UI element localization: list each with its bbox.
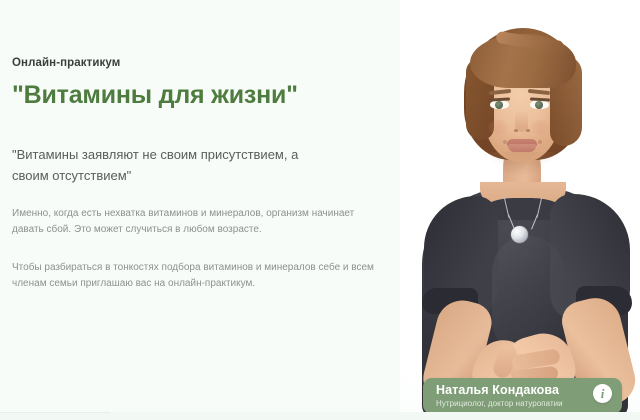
text-column: Онлайн-практикум "Витамины для жизни" "В…	[12, 56, 412, 292]
lower-lip	[508, 144, 536, 152]
info-icon[interactable]: i	[593, 384, 612, 403]
bottom-hairline	[0, 412, 110, 413]
jaw-shading	[490, 152, 554, 168]
body-paragraph-1: Именно, когда есть нехватка витаминов и …	[12, 206, 374, 238]
cheek-left	[488, 120, 508, 135]
necklace-pendant-icon	[511, 226, 528, 243]
pull-quote: "Витамины заявляют не своим присутствием…	[12, 144, 312, 186]
bottom-band	[0, 412, 640, 420]
page-title: "Витамины для жизни"	[12, 81, 412, 110]
presenter-name: Наталья Кондакова	[436, 383, 559, 398]
iris-left	[495, 101, 503, 109]
head-group	[462, 28, 584, 188]
nostril-left	[514, 129, 518, 132]
info-icon-glyph: i	[593, 384, 612, 403]
iris-right	[535, 101, 543, 109]
presenter-figure	[400, 0, 640, 420]
smile-corner-right	[538, 140, 542, 144]
promo-slide: Онлайн-практикум "Витамины для жизни" "В…	[0, 0, 640, 420]
nostril-right	[526, 129, 530, 132]
body-paragraph-2: Чтобы разбираться в тонкостях подбора ви…	[12, 260, 378, 292]
presenter-role: Нутрициолог, доктор натуропатии	[436, 399, 563, 409]
eyebrow-label: Онлайн-практикум	[12, 56, 412, 70]
cheek-right	[530, 120, 550, 135]
presenter-name-card[interactable]: Наталья Кондакова Нутрициолог, доктор на…	[423, 378, 622, 414]
presenter-photo	[400, 0, 640, 420]
